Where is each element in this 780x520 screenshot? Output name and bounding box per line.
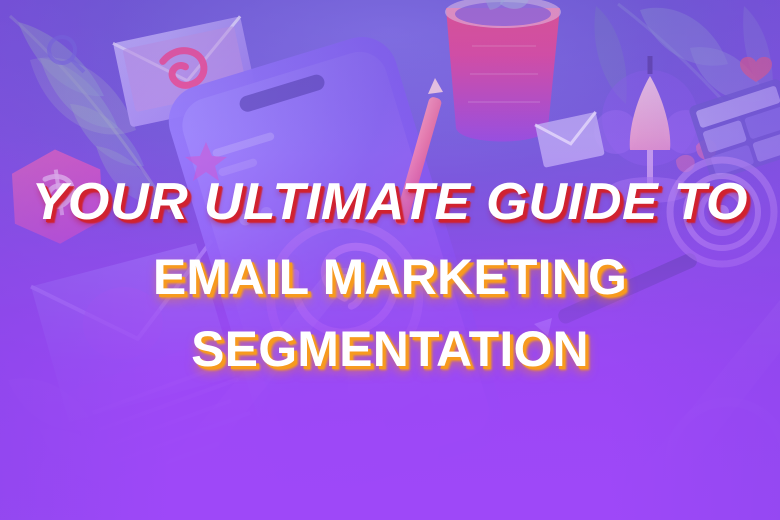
plant-pot <box>445 0 561 142</box>
illustration-svg <box>0 0 780 520</box>
illustration-artwork <box>0 0 780 520</box>
banner: YOUR ULTIMATE GUIDE TO EMAIL MARKETING S… <box>0 0 780 520</box>
target-rings <box>670 160 774 264</box>
